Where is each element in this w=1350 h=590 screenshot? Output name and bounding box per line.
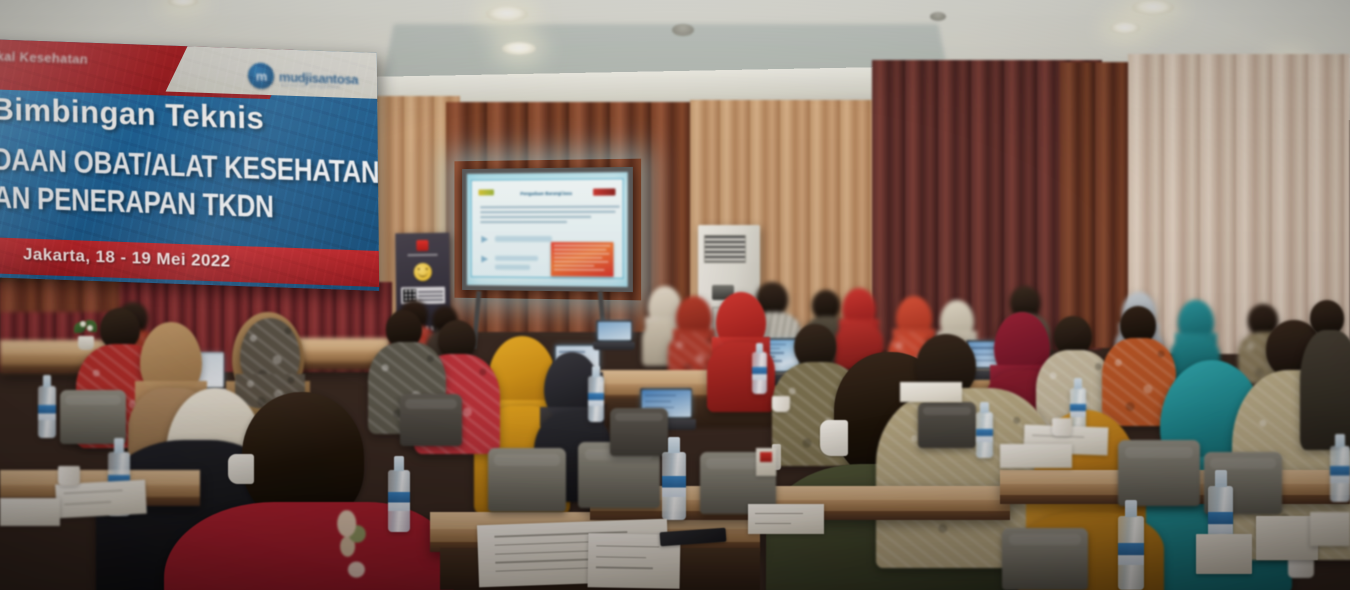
face-mask-front-red [228,454,254,484]
face-mask-center [820,420,848,456]
event-banner: ...kal Kesehatan m mudjisantosa konsulta… [0,39,379,291]
handout-center [748,504,824,534]
smoke-detector-2 [930,12,946,21]
slide-frame: Pengadaan Barang/Jasa [471,178,624,279]
water-bottle-1 [388,470,410,532]
plant-flower-1 [80,321,86,327]
chair-6 [60,390,126,444]
ac-vent-grille [704,235,746,263]
snack-box-1 [1256,516,1318,560]
water-bottle-4 [1118,516,1144,590]
plant-pot [78,336,94,350]
water-bottle-2 [662,452,686,520]
water-bottle-6 [38,386,56,438]
table-tent-logo [760,452,772,462]
chair-9 [918,402,976,448]
water-bottle-8 [752,352,767,394]
chair-7 [400,394,462,446]
chair-1 [488,448,566,512]
batik-embroidery-motif [330,510,374,562]
banner-gloss [0,39,379,291]
handout-left-2 [0,498,60,526]
slide-logo-right [593,188,615,195]
projection-screen-surface: Pengadaan Barang/Jasa [467,172,628,287]
handout-right-2 [1000,444,1072,468]
coffee-cup-2 [1052,418,1072,436]
chair-8 [610,408,668,456]
downlight-5 [1110,22,1140,34]
smiley-face-icon [414,263,432,281]
chair-4 [1118,440,1200,506]
projection-screen: Pengadaan Barang/Jasa [462,167,633,292]
coffee-cup-4 [772,396,790,412]
slide-highlight-box [551,242,613,277]
slide-logo-left [478,189,493,195]
handout-mid [900,382,962,402]
plant-flower-2 [87,325,93,331]
laptop-7 [596,320,632,350]
downlight-3 [1132,0,1174,15]
conference-room-photo: ...kal Kesehatan m mudjisantosa konsulta… [0,0,1350,590]
water-bottle-11 [1330,446,1350,502]
snack-box-3 [1310,512,1350,546]
batik-embroidery-motif-2 [338,556,378,590]
rollup-qr-text [418,289,443,302]
snack-box-2 [1196,534,1252,574]
water-bottle-7 [588,376,604,422]
coffee-cup-1 [58,466,80,486]
rollup-logo [416,240,428,251]
water-bottle-9 [976,412,993,458]
downlight-1 [486,6,528,22]
downlight-2 [502,42,536,55]
slide-title: Pengadaan Barang/Jasa [520,191,572,196]
chair-10 [1002,528,1088,590]
smoke-detector-1 [672,24,694,36]
rollup-subtitle-bar [408,254,438,256]
